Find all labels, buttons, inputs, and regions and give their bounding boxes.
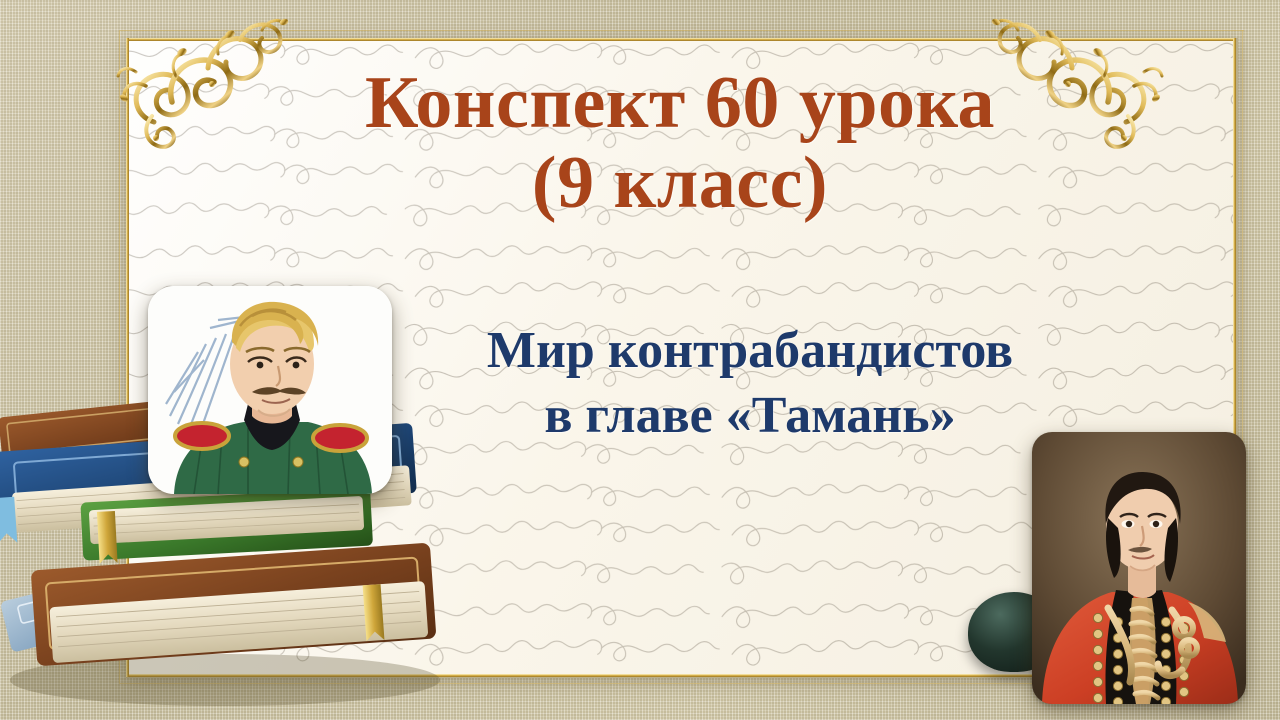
presentation-slide: Конспект 60 урока (9 класс) Мир контраба… [0, 0, 1280, 720]
pechorin-portrait-card [148, 286, 392, 494]
title-line-1: Конспект 60 урока [365, 62, 995, 144]
slide-subtitle: Мир контрабандистов в главе «Тамань» [400, 318, 1100, 448]
subtitle-line-2: в главе «Тамань» [400, 383, 1100, 448]
frame-line-top [128, 38, 1236, 41]
slide-title: Конспект 60 урока (9 класс) [180, 64, 1180, 224]
lermontov-portrait-card [1032, 432, 1246, 704]
subtitle-line-1: Мир контрабандистов [487, 322, 1013, 379]
frame-outline-top [120, 30, 1244, 31]
title-line-2: (9 класс) [180, 144, 1180, 224]
